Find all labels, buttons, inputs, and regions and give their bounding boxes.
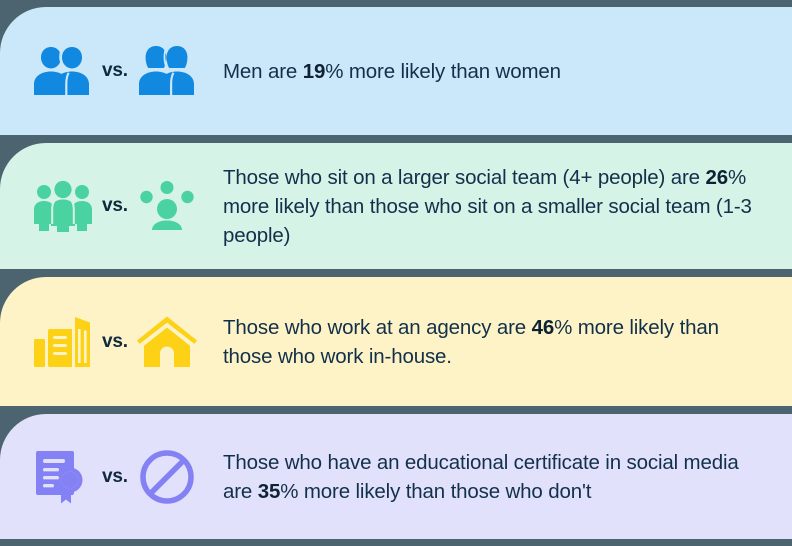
two-women-icon xyxy=(134,43,200,99)
stat-card-agency-vs-inhouse[interactable]: vs. Those who work at an agency are 46% … xyxy=(0,277,792,406)
icon-pair-certificate: vs. xyxy=(30,447,205,507)
card-gap-2 xyxy=(0,269,792,277)
single-person-network-icon xyxy=(134,180,200,232)
stat-card-team-size[interactable]: vs. Those who sit on a larger social tea… xyxy=(0,143,792,269)
prohibition-icon xyxy=(134,449,200,505)
infographic-container: vs. xyxy=(0,0,792,544)
stat-card-gender[interactable]: vs. xyxy=(0,7,792,135)
vs-label: vs. xyxy=(96,331,134,353)
stat-highlight: 35 xyxy=(258,480,281,503)
stat-text-before: Those who work at an agency are xyxy=(223,316,532,339)
icon-pair-gender: vs. xyxy=(30,43,205,99)
stat-card-certificate[interactable]: vs. Those who have an educational certif… xyxy=(0,414,792,539)
stat-text-after: % more likely than women xyxy=(325,60,561,83)
stat-highlight: 46 xyxy=(532,316,555,339)
certificate-icon xyxy=(30,447,96,507)
vs-label: vs. xyxy=(96,195,134,217)
card-gap-1 xyxy=(0,135,792,143)
stat-text-after: % more likely than those who don't xyxy=(280,480,591,503)
bottom-margin xyxy=(0,539,792,546)
house-icon xyxy=(134,315,200,369)
stat-text-before: Men are xyxy=(223,60,303,83)
icon-pair-agency-vs-inhouse: vs. xyxy=(30,315,205,369)
stat-text-before: Those who sit on a larger social team (4… xyxy=(223,166,705,189)
top-margin xyxy=(0,0,792,7)
stat-text-team-size: Those who sit on a larger social team (4… xyxy=(205,163,772,250)
vs-label: vs. xyxy=(96,466,134,488)
card-gap-3 xyxy=(0,406,792,414)
group-of-three-people-icon xyxy=(30,180,96,232)
icon-pair-team-size: vs. xyxy=(30,180,205,232)
vs-label: vs. xyxy=(96,60,134,82)
two-men-icon xyxy=(30,43,96,99)
office-buildings-icon xyxy=(30,315,96,369)
stat-highlight: 19 xyxy=(303,60,326,83)
stat-highlight: 26 xyxy=(705,166,728,189)
stat-text-gender: Men are 19% more likely than women xyxy=(205,57,772,86)
stat-text-certificate: Those who have an educational certificat… xyxy=(205,448,772,506)
stat-text-agency-vs-inhouse: Those who work at an agency are 46% more… xyxy=(205,313,772,371)
